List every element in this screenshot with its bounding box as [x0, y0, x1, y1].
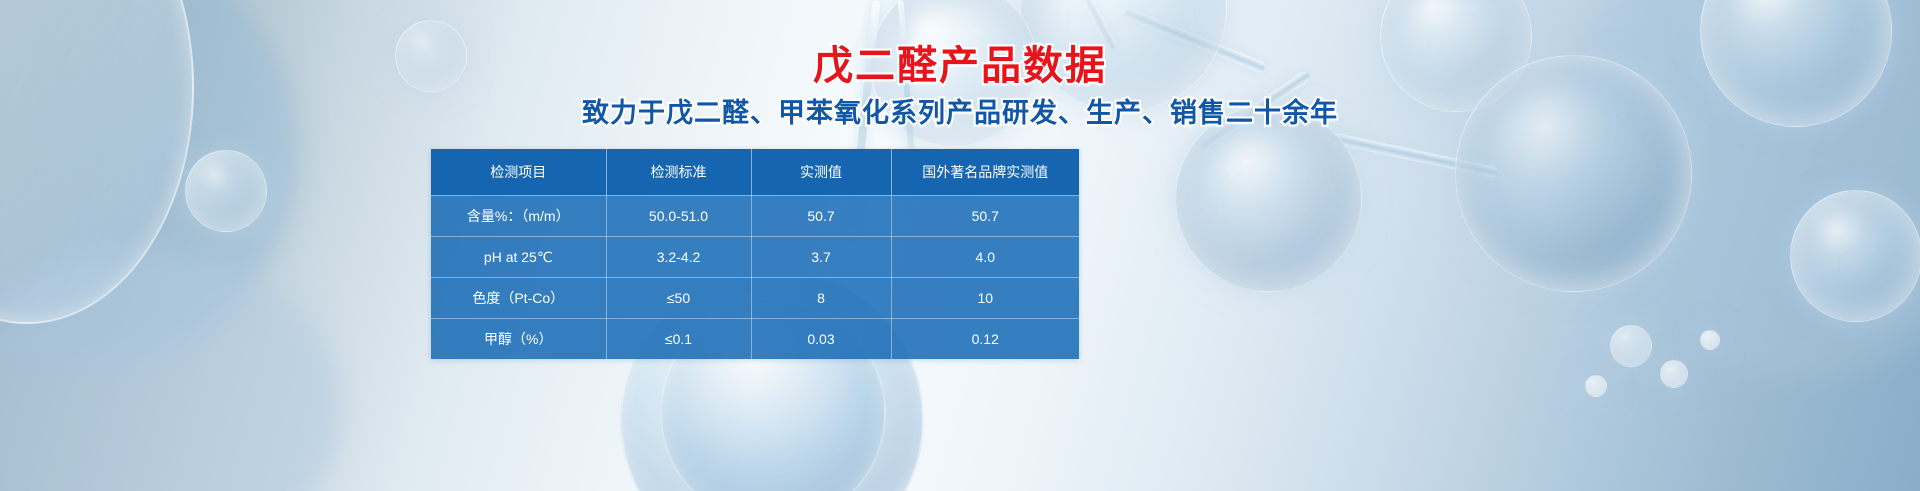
page-title: 戊二醛产品数据 — [813, 44, 1107, 89]
cell-measured: 50.7 — [751, 196, 891, 237]
column-header-measured: 实测值 — [751, 149, 891, 196]
column-header-foreign-brand: 国外著名品牌实测值 — [891, 149, 1079, 196]
product-spec-table: 检测项目 检测标准 实测值 国外著名品牌实测值 含量%：（m/m） 50.0-5… — [431, 149, 1079, 359]
table-row: 甲醇（%） ≤0.1 0.03 0.12 — [431, 319, 1079, 360]
molecule-node-3 — [1175, 105, 1362, 292]
cell-test-standard: ≤0.1 — [606, 319, 751, 360]
product-data-banner: 戊二醛产品数据 致力于戊二醛、甲苯氧化系列产品研发、生产、销售二十余年 检测项目… — [0, 0, 1920, 491]
cell-foreign-brand: 0.12 — [891, 319, 1079, 360]
cell-test-item: 甲醇（%） — [431, 319, 606, 360]
cell-foreign-brand: 10 — [891, 278, 1079, 319]
table-row: 色度（Pt-Co） ≤50 8 10 — [431, 278, 1079, 319]
cell-test-item: pH at 25℃ — [431, 237, 606, 278]
molecule-node-7 — [1790, 190, 1920, 322]
cell-test-standard: 50.0-51.0 — [606, 196, 751, 237]
cell-test-standard: 3.2-4.2 — [606, 237, 751, 278]
column-header-test-standard: 检测标准 — [606, 149, 751, 196]
cell-test-standard: ≤50 — [606, 278, 751, 319]
cell-foreign-brand: 4.0 — [891, 237, 1079, 278]
spec-table-container: 检测项目 检测标准 实测值 国外著名品牌实测值 含量%：（m/m） 50.0-5… — [431, 149, 1079, 359]
cell-foreign-brand: 50.7 — [891, 196, 1079, 237]
table-row: 含量%：（m/m） 50.0-51.0 50.7 50.7 — [431, 196, 1079, 237]
bubble-small-6 — [1700, 330, 1720, 350]
bubble-small-3 — [1610, 325, 1652, 367]
bubble-small-5 — [1585, 375, 1607, 397]
table-row: pH at 25℃ 3.2-4.2 3.7 4.0 — [431, 237, 1079, 278]
cell-measured: 0.03 — [751, 319, 891, 360]
cell-test-item: 含量%：（m/m） — [431, 196, 606, 237]
cell-test-item: 色度（Pt-Co） — [431, 278, 606, 319]
column-header-test-item: 检测项目 — [431, 149, 606, 196]
bubble-small-4 — [1660, 360, 1688, 388]
cell-measured: 3.7 — [751, 237, 891, 278]
table-header-row: 检测项目 检测标准 实测值 国外著名品牌实测值 — [431, 149, 1079, 196]
cell-measured: 8 — [751, 278, 891, 319]
bubble-small-1 — [185, 150, 267, 232]
page-subtitle: 致力于戊二醛、甲苯氧化系列产品研发、生产、销售二十余年 — [582, 99, 1338, 129]
banner-text-block: 戊二醛产品数据 致力于戊二醛、甲苯氧化系列产品研发、生产、销售二十余年 — [0, 44, 1920, 128]
